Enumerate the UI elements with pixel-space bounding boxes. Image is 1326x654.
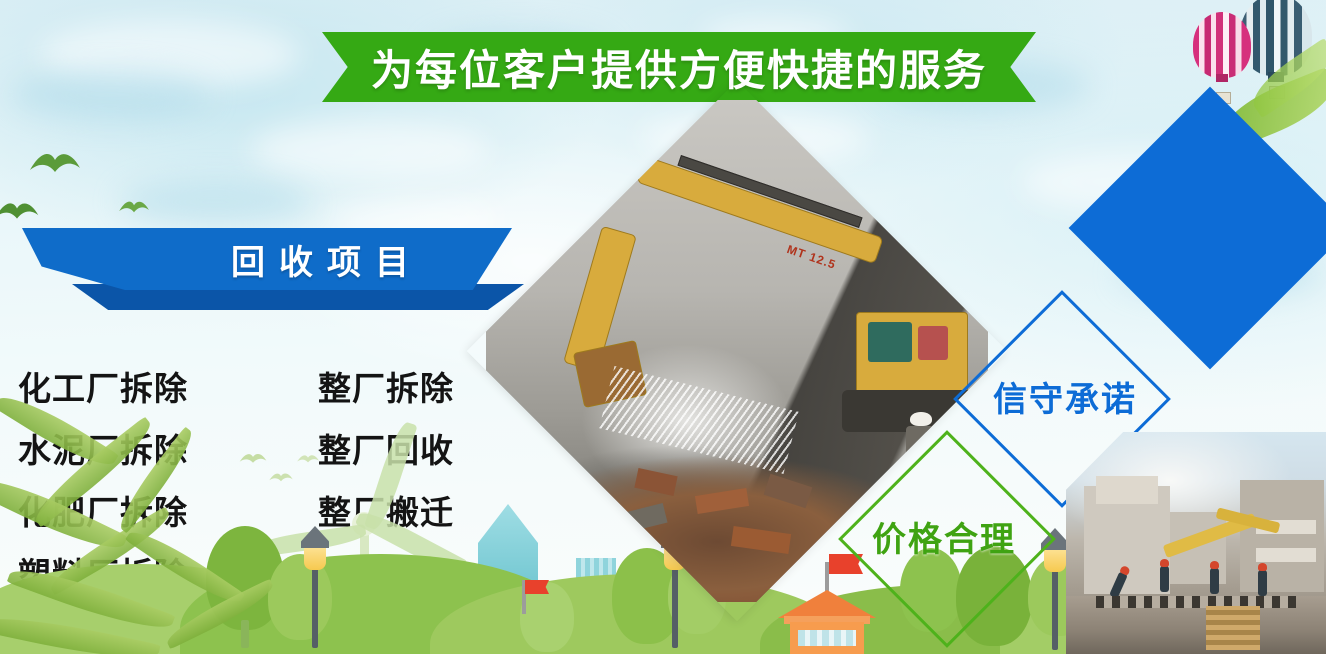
promotional-banner: 为每位客户提供方便快捷的服务 回收项目 化工厂拆除 整厂拆除 水泥厂拆除 整厂回…	[0, 0, 1326, 654]
headline-text: 为每位客户提供方便快捷的服务	[371, 37, 987, 98]
bird-icon	[118, 198, 150, 221]
ribbon-body: 回收项目	[22, 228, 512, 290]
workers-demolition-photo	[1066, 432, 1326, 654]
excavator-boom	[636, 156, 883, 265]
section-title-ribbon: 回收项目	[22, 228, 534, 320]
headline-ribbon: 为每位客户提供方便快捷的服务	[322, 32, 1036, 102]
worker-figure	[1210, 568, 1219, 594]
street-lamp	[300, 536, 330, 648]
badge-price: 价格合理	[870, 462, 1018, 610]
street-lamp	[1040, 538, 1070, 650]
dust-spray	[599, 366, 799, 474]
bird-icon	[0, 198, 40, 229]
section-title-text: 回收项目	[111, 235, 423, 284]
service-item: 化工厂拆除	[18, 362, 318, 410]
worker-figure	[1160, 566, 1169, 592]
house-illustration	[778, 562, 876, 654]
red-flag-small	[522, 580, 548, 614]
badge-label: 价格合理	[870, 462, 1018, 610]
bird-icon	[28, 148, 82, 183]
worker-figure	[1258, 570, 1267, 596]
worker-helmet	[910, 412, 932, 426]
service-item: 整厂拆除	[318, 362, 508, 410]
tree-trunk	[241, 620, 249, 648]
service-row: 化工厂拆除 整厂拆除	[18, 355, 518, 417]
